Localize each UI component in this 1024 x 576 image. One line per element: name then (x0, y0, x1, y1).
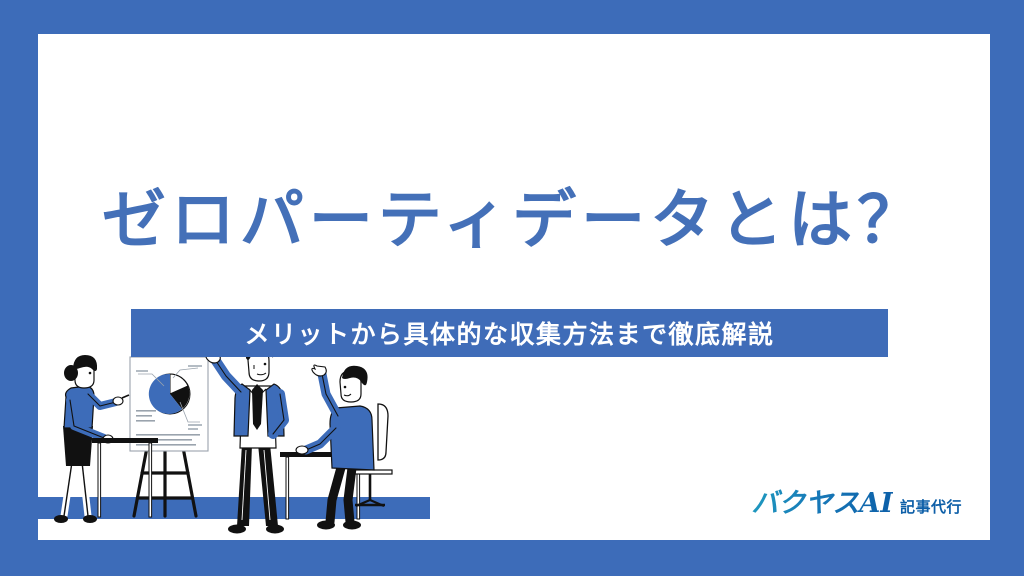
logo-service-name: 記事代行 (900, 496, 962, 517)
brand-logo: バクヤスAI 記事代行 (751, 481, 962, 520)
illustration-svg (38, 340, 430, 540)
logo-brand-name: バクヤスAI (751, 481, 893, 520)
flipchart-pie-chart (149, 374, 190, 414)
slide-canvas: ゼロパーティデータとは？ メリットから具体的な収集方法まで徹底解説 バクヤスAI… (38, 34, 990, 540)
page-title: ゼロパーティデータとは？ (38, 189, 990, 253)
subtitle-text: メリットから具体的な収集方法まで徹底解説 (244, 315, 774, 351)
subtitle-banner: メリットから具体的な収集方法まで徹底解説 (131, 309, 888, 357)
slide-root: ゼロパーティデータとは？ メリットから具体的な収集方法まで徹底解説 バクヤスAI… (0, 0, 1024, 576)
business-team-illustration (38, 340, 430, 540)
flipchart (130, 357, 208, 516)
